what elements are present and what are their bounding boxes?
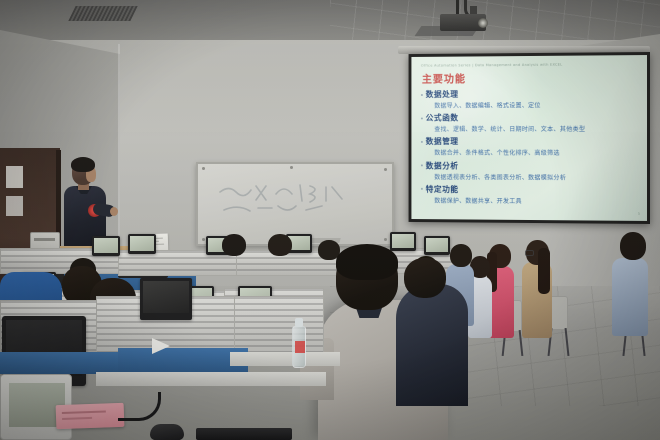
slide-section: 数据管理 数据合并、条件格式、个性化排序、高级筛选: [421, 136, 640, 157]
section-title: 特定功能: [426, 184, 459, 195]
desk-surface: [96, 372, 326, 386]
classroom-photo: Office Automation Series | Data Manageme…: [0, 0, 660, 440]
monitor: [128, 234, 156, 254]
section-subtitle: 查找、逻辑、数学、统计、日期时间、文本、其他类型: [434, 124, 640, 133]
attendee-hair-long: [538, 248, 550, 294]
slide-title: 主要功能: [422, 71, 466, 86]
section-subtitle: 数据透视表分析、各类图表分析、数据模拟分析: [434, 172, 640, 182]
section-title: 数据处理: [426, 89, 459, 100]
bottle-cap: [295, 318, 303, 327]
monitor: [390, 232, 416, 251]
presenter-hair: [71, 157, 95, 172]
student-head: [222, 234, 246, 256]
bullet-dot-icon: [421, 94, 423, 96]
attendee-light-blue-shirt-head: [450, 244, 472, 267]
desk-panel-blue: [0, 352, 120, 374]
ceiling-vent: [68, 6, 137, 21]
section-subtitle: 数据保护、数据共享、开发工具: [434, 195, 640, 205]
pc-drive-slot: [34, 238, 55, 241]
slide-surface: Office Automation Series | Data Manageme…: [411, 55, 647, 221]
projector-lens: [478, 18, 488, 28]
slide-section: 数据处理 数据导入、数据编辑、格式设置、定位: [421, 88, 640, 110]
desk-partition-front: [234, 296, 324, 354]
section-subtitle: 数据合并、条件格式、个性化排序、高级筛选: [434, 148, 640, 157]
slide-bullet-list: 数据处理 数据导入、数据编辑、格式设置、定位 公式函数 查找、逻辑、数学、统计、…: [421, 88, 640, 209]
bullet-dot-icon: [421, 141, 423, 143]
attendee-dark-jacket-head: [404, 258, 446, 298]
wall-corner-seam: [118, 44, 120, 264]
section-title: 数据管理: [426, 136, 459, 147]
monitor: [424, 236, 450, 255]
desk-panel-blue: [118, 348, 248, 374]
section-title: 公式函数: [426, 113, 459, 124]
monitor-foreground: [140, 278, 192, 320]
slide-page-number: 5: [638, 212, 640, 216]
pink-desk-card: [56, 403, 125, 429]
wall-notice-upper: [6, 166, 23, 188]
desk-surface: [230, 352, 340, 366]
slide-section: 特定功能 数据保护、数据共享、开发工具: [421, 184, 640, 206]
computer-mouse[interactable]: [150, 424, 184, 440]
monitor: [92, 236, 120, 256]
keyboard[interactable]: [196, 428, 292, 440]
section-title: 数据分析: [426, 160, 459, 171]
wall-notice-lower: [6, 196, 23, 216]
glasses-icon: [525, 250, 534, 256]
attendee-front-hair: [336, 244, 398, 280]
attendee-dark-jacket-body: [396, 284, 468, 406]
whiteboard-erased-marks: [214, 180, 364, 222]
projection-screen: Office Automation Series | Data Manageme…: [409, 52, 650, 224]
slide-section: 数据分析 数据透视表分析、各类图表分析、数据模拟分析: [421, 160, 640, 181]
attendee-right-blue-shirt-body: [612, 258, 648, 336]
student-head: [268, 234, 292, 256]
bullet-dot-icon: [421, 164, 423, 166]
slide-section: 公式函数 查找、逻辑、数学、统计、日期时间、文本、其他类型: [421, 112, 640, 133]
attendee-right-blue-shirt-head: [620, 232, 646, 260]
presenter-hand: [110, 207, 118, 216]
water-bottle[interactable]: [292, 326, 306, 368]
bullet-dot-icon: [421, 117, 423, 119]
bullet-dot-icon: [421, 188, 423, 190]
section-subtitle: 数据导入、数据编辑、格式设置、定位: [434, 100, 640, 110]
